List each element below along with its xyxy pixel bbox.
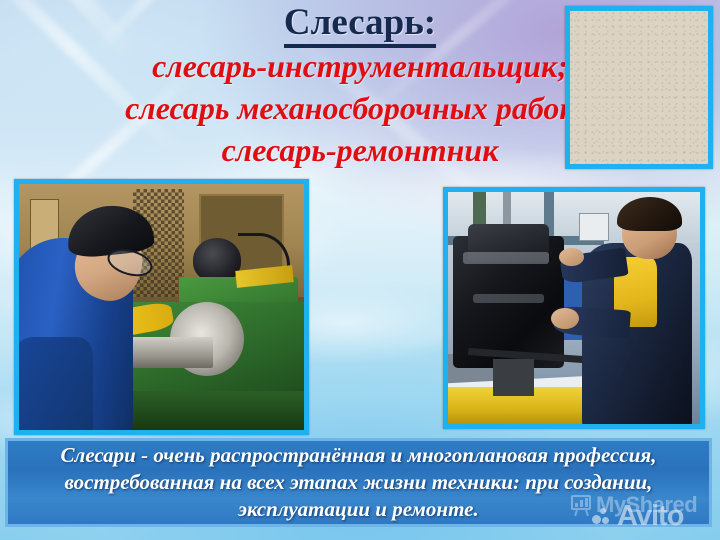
photo-worker-assembling-car-engine <box>443 187 705 429</box>
photo-left-worker-arm <box>14 337 93 435</box>
photo-left-canvas <box>19 184 304 430</box>
photo-right-canvas <box>448 192 700 424</box>
photo-worker-blue-overalls-green-lathe <box>14 179 309 435</box>
slide-title-text: Слесарь: <box>284 2 436 48</box>
photo-right-worker-hand <box>559 248 584 267</box>
photo-left-work-lamp <box>193 238 241 282</box>
caption-line-2: востребованная на всех этапах жизни техн… <box>65 469 653 496</box>
photo-right-control-box <box>579 213 609 241</box>
photo-right-worker-hand <box>551 308 579 329</box>
presentation-slide: Слесарь: слесарь-инструментальщик; слеса… <box>0 0 720 540</box>
photo-right-engine-highlight <box>473 294 544 303</box>
slide-title: Слесарь: <box>284 4 436 41</box>
photo-right-engine-highlight <box>463 252 549 264</box>
caption-line-3: эксплуатации и ремонте. <box>238 496 478 523</box>
photo-left-tool-post <box>127 337 213 369</box>
caption-box: Слесари - очень распространённая и много… <box>5 438 712 527</box>
illustration-canvas <box>570 11 708 164</box>
illustration-metalworker-at-bench-lathe <box>565 6 713 169</box>
caption-line-1: Слесари - очень распространённая и много… <box>61 442 657 469</box>
photo-right-engine-stand <box>493 359 533 396</box>
illustration-paper-texture <box>570 11 708 164</box>
